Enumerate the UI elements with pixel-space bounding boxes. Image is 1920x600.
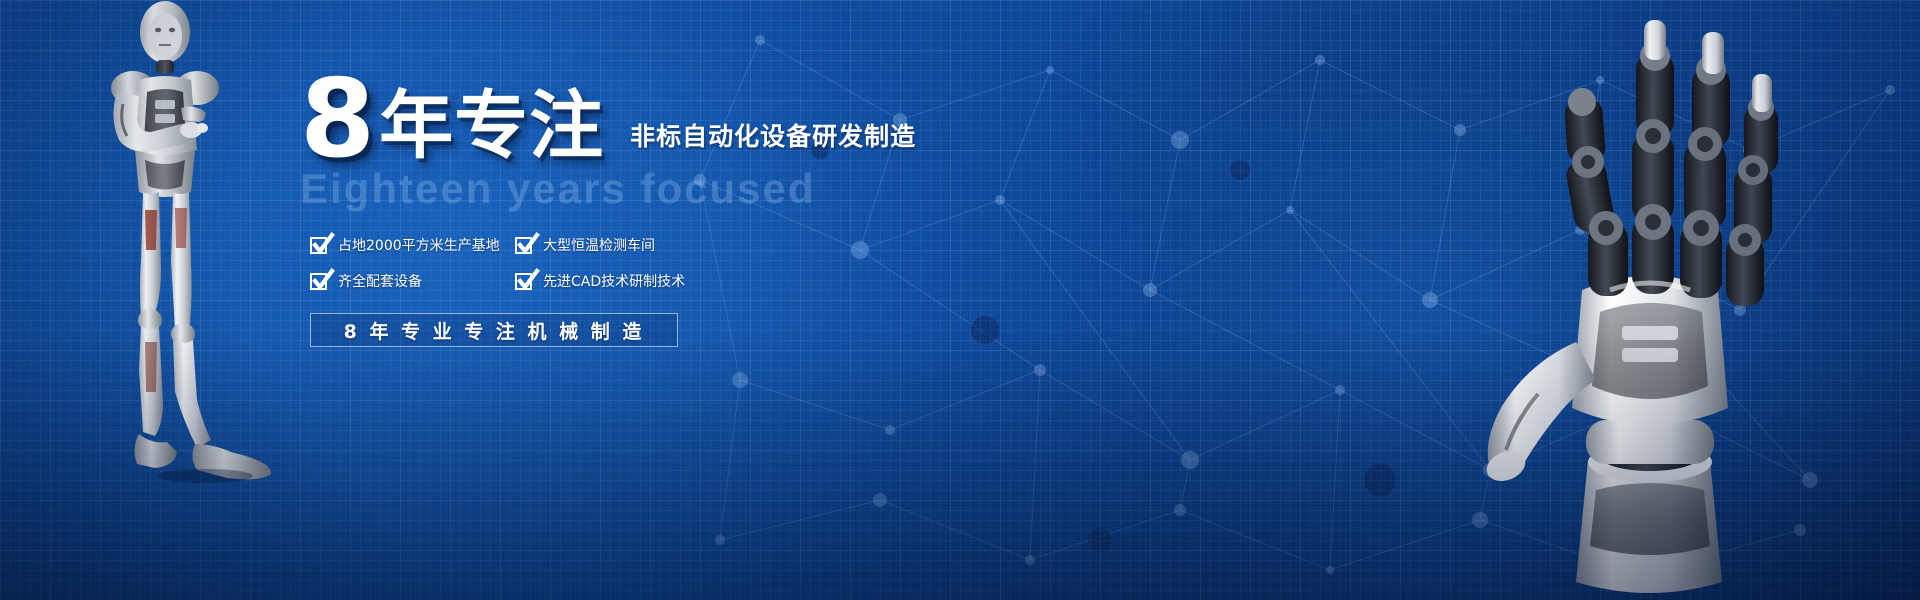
feature-item: 占地2000平方米生产基地 xyxy=(310,235,515,255)
headline-subtitle: 非标自动化设备研发制造 xyxy=(630,117,916,153)
headline-number: 8 xyxy=(300,70,373,169)
hero-banner: 8 年专注 非标自动化设备研发制造 Eighteen years focused… xyxy=(0,0,1920,600)
check-icon xyxy=(310,273,327,290)
slogan-text: 8 年 专 业 专 注 机 械 制 造 xyxy=(344,317,645,344)
slogan-bar: 8 年 专 业 专 注 机 械 制 造 xyxy=(310,313,678,347)
feature-item: 先进CAD技术研制技术 xyxy=(515,271,745,291)
banner-content: 8 年专注 非标自动化设备研发制造 Eighteen years focused… xyxy=(300,70,1060,347)
feature-item: 齐全配套设备 xyxy=(310,271,515,291)
feature-label: 大型恒温检测车间 xyxy=(543,235,655,255)
feature-checklist: 占地2000平方米生产基地 大型恒温检测车间 齐全配套设备 先进CAD技术研制技… xyxy=(310,235,1060,291)
humanoid-robot-figure xyxy=(55,0,275,490)
feature-label: 占地2000平方米生产基地 xyxy=(338,235,500,255)
feature-label: 先进CAD技术研制技术 xyxy=(543,271,685,291)
headline-chinese: 年专注 xyxy=(379,89,604,163)
check-icon xyxy=(515,237,532,254)
check-icon xyxy=(515,273,532,290)
feature-label: 齐全配套设备 xyxy=(338,271,422,291)
feature-item: 大型恒温检测车间 xyxy=(515,235,745,255)
headline-ghost-english: Eighteen years focused xyxy=(300,165,1060,213)
check-icon xyxy=(310,237,327,254)
headline: 8 年专注 非标自动化设备研发制造 xyxy=(300,70,1060,169)
robotic-hand-figure xyxy=(1410,0,1890,600)
